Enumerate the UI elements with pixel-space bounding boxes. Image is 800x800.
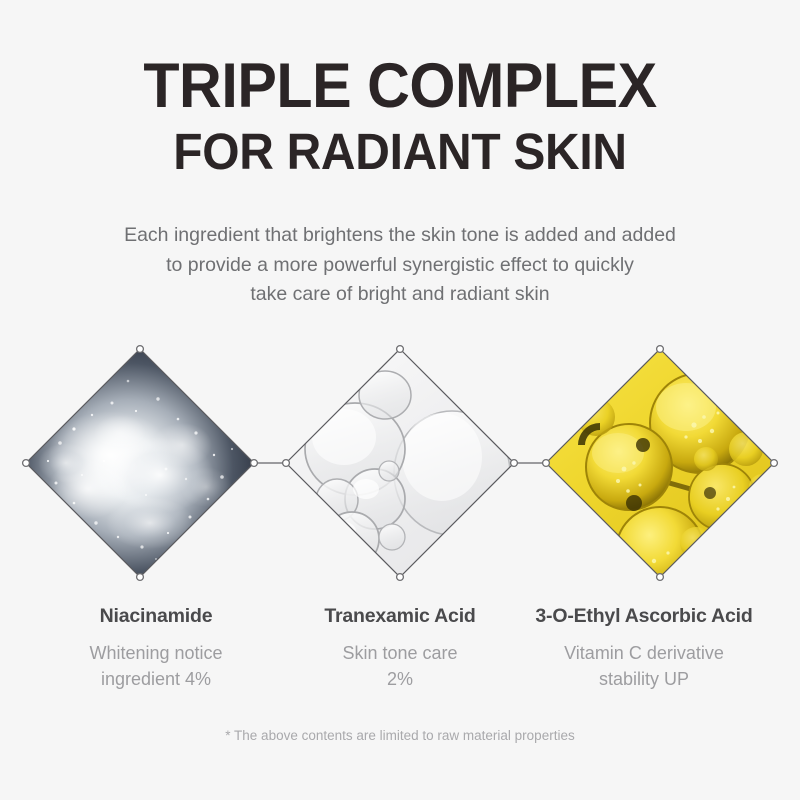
ingredient-desc-3-line-2: stability UP xyxy=(526,666,762,692)
heading-block: TRIPLE COMPLEX FOR RADIANT SKIN xyxy=(0,0,800,177)
diamond-niacinamide xyxy=(26,349,254,577)
ingredient-name-3: 3-O-Ethyl Ascorbic Acid xyxy=(526,605,762,628)
subtitle-line-1: Each ingredient that brightens the skin … xyxy=(124,221,676,250)
diamond-tranexamic-acid xyxy=(286,349,514,577)
ingredient-desc-2-line-1: Skin tone care xyxy=(282,640,518,666)
diamond-ascorbic-acid xyxy=(546,349,775,589)
promo-page: TRIPLE COMPLEX FOR RADIANT SKIN Each ing… xyxy=(0,0,800,800)
ingredient-desc-1: Whitening notice ingredient 4% xyxy=(38,640,274,692)
page-title-line-1: TRIPLE COMPLEX xyxy=(24,56,776,116)
subtitle-line-3: take care of bright and radiant skin xyxy=(124,280,676,309)
ingredient-caption-ascorbic-acid: 3-O-Ethyl Ascorbic Acid Vitamin C deriva… xyxy=(526,605,762,692)
ingredient-desc-2-line-2: 2% xyxy=(282,666,518,692)
subtitle-line-2: to provide a more powerful synergistic e… xyxy=(124,251,676,280)
diamond-graphics-svg xyxy=(0,337,800,589)
ingredient-name-2: Tranexamic Acid xyxy=(282,605,518,628)
ingredient-desc-1-line-2: ingredient 4% xyxy=(38,666,274,692)
ingredient-name-1: Niacinamide xyxy=(38,605,274,628)
subtitle-block: Each ingredient that brightens the skin … xyxy=(124,221,676,309)
ingredient-caption-niacinamide: Niacinamide Whitening notice ingredient … xyxy=(38,605,274,692)
ingredient-desc-3: Vitamin C derivative stability UP xyxy=(526,640,762,692)
ingredient-diamond-row xyxy=(0,337,800,589)
ingredient-desc-2: Skin tone care 2% xyxy=(282,640,518,692)
ingredient-desc-3-line-1: Vitamin C derivative xyxy=(526,640,762,666)
footnote-disclaimer: * The above contents are limited to raw … xyxy=(0,728,800,743)
ingredient-desc-1-line-1: Whitening notice xyxy=(38,640,274,666)
ingredient-caption-row: Niacinamide Whitening notice ingredient … xyxy=(0,605,800,692)
page-title-line-2: FOR RADIANT SKIN xyxy=(24,126,776,177)
ingredient-caption-tranexamic-acid: Tranexamic Acid Skin tone care 2% xyxy=(282,605,518,692)
